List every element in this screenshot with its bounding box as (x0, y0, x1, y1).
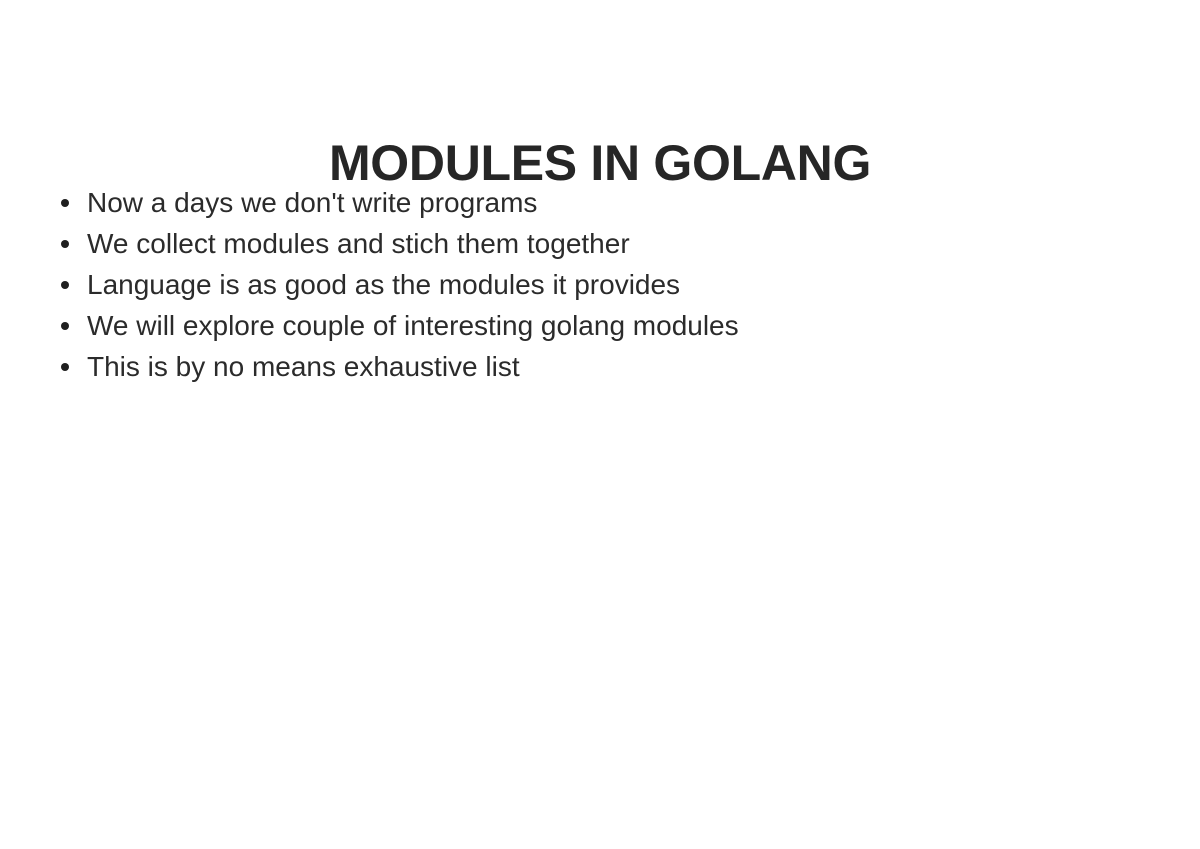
bullet-point-icon (61, 199, 69, 207)
list-item-label: This is by no means exhaustive list (87, 346, 520, 387)
bullet-point-icon (61, 363, 69, 371)
list-item-label: Language is as good as the modules it pr… (87, 264, 680, 305)
list-item-label: We collect modules and stich them togeth… (87, 223, 630, 264)
list-item: We collect modules and stich them togeth… (55, 223, 1155, 264)
bullet-point-icon (61, 281, 69, 289)
bullet-point-icon (61, 322, 69, 330)
list-item: Now a days we don't write programs (55, 182, 1155, 223)
slide-title: MODULES IN GOLANG (0, 138, 1200, 188)
list-item: We will explore couple of interesting go… (55, 305, 1155, 346)
list-item-label: Now a days we don't write programs (87, 182, 537, 223)
list-item: This is by no means exhaustive list (55, 346, 1155, 387)
bullet-list: Now a days we don't write programs We co… (55, 182, 1155, 387)
list-item-label: We will explore couple of interesting go… (87, 305, 739, 346)
bullet-point-icon (61, 240, 69, 248)
presentation-slide: MODULES IN GOLANG Now a days we don't wr… (0, 0, 1200, 849)
list-item: Language is as good as the modules it pr… (55, 264, 1155, 305)
